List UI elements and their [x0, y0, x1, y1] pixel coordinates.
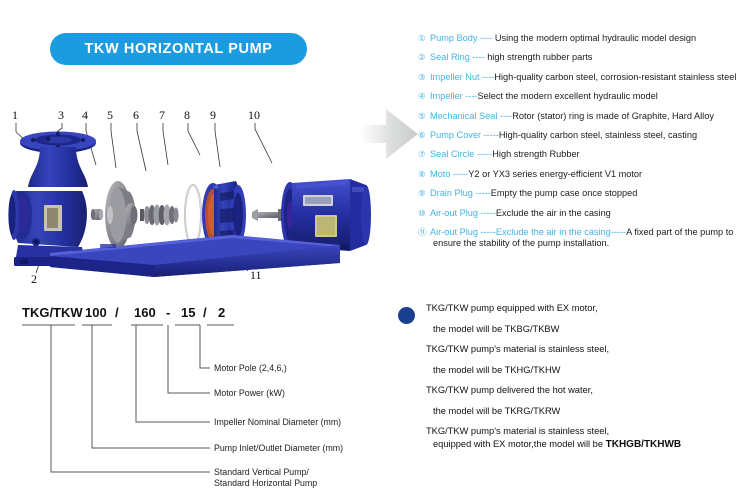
note-line-final: equipped with EX motor,the model will be…	[426, 439, 754, 450]
impeller-part	[105, 181, 138, 249]
legend-number: ①	[418, 33, 430, 44]
callout-number: 10	[248, 108, 260, 122]
legend-description-blue: Exclude the air in the casing	[496, 227, 611, 237]
seal-circle-part	[185, 185, 201, 245]
legend-dash-2: -----	[611, 227, 626, 237]
note-line-model-bold: TKHGB/TKHWB	[606, 439, 682, 450]
notes-lines: TKG/TKW pump equipped with EX motor, the…	[426, 303, 754, 450]
legend-dash: -----	[450, 169, 468, 179]
legend-part-name: Seal Circle	[430, 149, 474, 159]
note-line: TKG/TKW pump's material is stainless ste…	[426, 426, 754, 437]
callout-number: 8	[184, 108, 190, 122]
model-leader-label: Pump Inlet/Outlet Diameter (mm)	[214, 443, 343, 454]
legend-item: ⑨ Drain Plug -----Empty the pump case on…	[418, 188, 752, 199]
legend-dash: -----	[474, 149, 492, 159]
legend-number: ⑤	[418, 111, 430, 122]
note-line-prefix: equipped with EX motor,the model will be	[433, 439, 606, 449]
legend-description: Using the modern optimal hydraulic model…	[495, 33, 696, 43]
legend-part-name: Seal Ring	[430, 52, 470, 62]
model-code-leader-lines	[0, 300, 400, 500]
legend-number: ⑩	[418, 208, 430, 219]
legend-part-name: Impeller Nut	[430, 72, 480, 82]
legend-number: ⑪	[418, 227, 430, 238]
callout-number: 4	[82, 108, 88, 122]
legend-description: Y2 or YX3 series energy-efficient V1 mot…	[468, 169, 642, 179]
parts-legend-list: ① Pump Body ---- Using the modern optima…	[418, 33, 752, 257]
legend-dash: ----	[480, 72, 495, 82]
note-line: the model will be TKRG/TKRW	[426, 406, 754, 417]
legend-item: ⑪ Air-out Plug -----Exclude the air in t…	[418, 227, 752, 249]
legend-item: ⑤ Mechanical Seal ----Rotor (stator) rin…	[418, 111, 752, 122]
motor-shaft-part	[252, 209, 286, 221]
page-title-banner: TKW HORIZONTAL PUMP	[50, 33, 307, 65]
legend-part-name: Air-out Plug	[430, 208, 478, 218]
right-arrow-icon	[358, 103, 420, 165]
legend-number: ⑧	[418, 169, 430, 180]
legend-part-name: Impeller	[430, 91, 463, 101]
callout-number: 1	[12, 108, 18, 122]
legend-dash: -----	[478, 208, 496, 218]
legend-item: ⑩ Air-out Plug -----Exclude the air in t…	[418, 208, 752, 219]
legend-dash: -----	[478, 227, 496, 237]
legend-item: ⑥ Pump Cover -----High-quality carbon st…	[418, 130, 752, 141]
legend-number: ⑥	[418, 130, 430, 141]
legend-number: ⑦	[418, 149, 430, 160]
base-plate-part	[50, 235, 340, 277]
callout-number: 6	[133, 108, 139, 122]
legend-part-name: Moto	[430, 169, 450, 179]
legend-dash: ----	[463, 91, 478, 101]
legend-description: High-quality carbon steel, stainless ste…	[499, 130, 697, 140]
legend-number: ②	[418, 52, 430, 63]
legend-part-name: Pump Cover	[430, 130, 481, 140]
legend-description: A fixed part of the pump to	[626, 227, 733, 237]
legend-dash: -----	[481, 130, 499, 140]
model-leader-label-line2: Standard Horizontal Pump	[214, 478, 317, 489]
legend-dash: ----	[497, 111, 512, 121]
model-designation-diagram: TKG/TKW 100 / 160 - 15 / 2 Motor Pole (2	[0, 300, 400, 500]
model-naming-notes: TKG/TKW pump equipped with EX motor, the…	[398, 303, 754, 460]
legend-description: Exclude the air in the casing	[496, 208, 611, 218]
impeller-nut-part	[91, 209, 103, 220]
callout-number: 2	[31, 272, 37, 286]
legend-description: Rotor (stator) ring is made of Graphite,…	[512, 111, 714, 121]
legend-description-continued: ensure the stability of the pump install…	[430, 238, 752, 249]
mechanical-seal-part	[140, 205, 179, 226]
legend-part-name: Pump Body	[430, 33, 478, 43]
legend-part-name: Air-out Plug	[430, 227, 478, 237]
callout-number: 11	[250, 268, 262, 282]
bullet-icon	[398, 307, 415, 324]
callout-number: 5	[107, 108, 113, 122]
legend-item: ② Seal Ring ---- high strength rubber pa…	[418, 52, 752, 63]
note-line: the model will be TKBG/TKBW	[426, 324, 754, 335]
model-leader-label: Motor Pole (2,4,6,)	[214, 363, 287, 374]
note-line: TKG/TKW pump delivered the hot water,	[426, 385, 754, 396]
model-leader-label: Impeller Nominal Diameter (mm)	[214, 417, 341, 428]
page-title: TKW HORIZONTAL PUMP	[84, 41, 272, 57]
legend-description: high strength rubber parts	[487, 52, 592, 62]
exploded-pump-diagram: 1 3 4 5 6 7 8 9 10 2 11	[0, 95, 400, 295]
legend-description: High strength Rubber	[492, 149, 579, 159]
legend-number: ④	[418, 91, 430, 102]
legend-item: ④ Impeller ----Select the modern excelle…	[418, 91, 752, 102]
legend-part-name: Mechanical Seal	[430, 111, 497, 121]
legend-dash: ----	[478, 33, 495, 43]
model-leader-label-line1: Standard Vertical Pump/	[214, 467, 309, 478]
callout-number: 3	[58, 108, 64, 122]
legend-dash: ----	[470, 52, 487, 62]
legend-dash: -----	[473, 188, 491, 198]
legend-description: High-quality carbon steel, corrosion-res…	[494, 72, 736, 82]
model-leader-label: Motor Power (kW)	[214, 388, 285, 399]
motor-part	[281, 179, 371, 251]
legend-number: ⑨	[418, 188, 430, 199]
legend-item: ⑧ Moto -----Y2 or YX3 series energy-effi…	[418, 169, 752, 180]
note-line: TKG/TKW pump equipped with EX motor,	[426, 303, 754, 314]
legend-description: Empty the pump case once stopped	[491, 188, 638, 198]
legend-part-name: Drain Plug	[430, 188, 473, 198]
legend-item: ⑦ Seal Circle -----High strength Rubber	[418, 149, 752, 160]
note-line: TKG/TKW pump's material is stainless ste…	[426, 344, 754, 355]
legend-number: ③	[418, 72, 430, 83]
note-line: the model will be TKHG/TKHW	[426, 365, 754, 376]
pump-body-part	[8, 132, 96, 267]
legend-item: ③ Impeller Nut ----High-quality carbon s…	[418, 72, 752, 83]
callout-number: 7	[159, 108, 165, 122]
legend-item: ① Pump Body ---- Using the modern optima…	[418, 33, 752, 44]
callout-number: 9	[210, 108, 216, 122]
legend-description: Select the modern excellent hydraulic mo…	[477, 91, 657, 101]
